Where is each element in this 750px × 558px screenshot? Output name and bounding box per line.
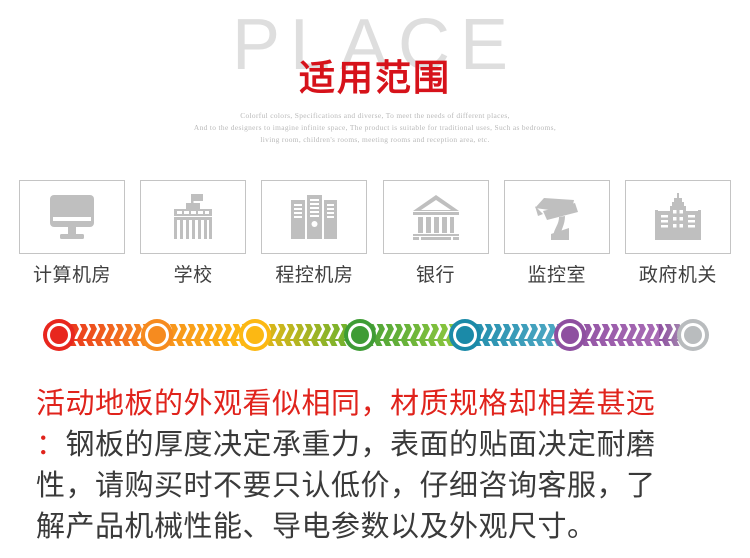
description-line-2: ：钢板的厚度决定承重力，表面的贴面决定耐磨: [36, 425, 714, 466]
cctv-camera-icon: [529, 192, 585, 242]
subtitle-line-2: And to the designers to imagine infinite…: [0, 122, 750, 134]
description-line-2-text: 钢板的厚度决定承重力，表面的贴面决定耐磨: [66, 429, 656, 461]
scenario-item-switch-room[interactable]: 程控机房: [260, 180, 368, 288]
description-colon: ：: [36, 429, 66, 461]
scenario-item-computer-room[interactable]: 计算机房: [18, 180, 126, 288]
description-line-4: 解产品机械性能、导电参数以及外观尺寸。: [36, 507, 714, 548]
bank-icon: [408, 192, 464, 242]
subtitle-block: Colorful colors, Specifications and dive…: [0, 110, 750, 147]
subtitle-line-3: living room, children's rooms, meeting r…: [0, 134, 750, 146]
server-rack-icon: [286, 192, 342, 242]
page-header: PLACE 适用范围 Colorful colors, Specificatio…: [0, 0, 750, 168]
icon-frame: [625, 180, 731, 254]
government-building-icon: [650, 192, 706, 242]
scenario-label: 计算机房: [33, 264, 111, 288]
subtitle-line-1: Colorful colors, Specifications and dive…: [0, 110, 750, 122]
scenario-item-bank[interactable]: 银行: [382, 180, 490, 288]
scenario-label: 程控机房: [275, 264, 353, 288]
description-block: 活动地板的外观看似相同，材质规格却相差甚远 ：钢板的厚度决定承重力，表面的贴面决…: [0, 384, 750, 548]
description-line-3: 性，请购买时不要只认低价，仔细咨询客服，了: [36, 466, 714, 507]
icon-frame: [504, 180, 610, 254]
scenario-label: 政府机关: [639, 264, 717, 288]
rainbow-chevron-divider: [38, 318, 714, 352]
monitor-icon: [44, 192, 100, 242]
icon-frame: [19, 180, 125, 254]
school-building-icon: [165, 192, 221, 242]
scenario-item-school[interactable]: 学校: [139, 180, 247, 288]
application-scenario-list: 计算机房: [0, 180, 750, 288]
scenario-label: 学校: [174, 264, 213, 288]
description-line-1: 活动地板的外观看似相同，材质规格却相差甚远: [36, 384, 714, 425]
scenario-label: 银行: [416, 264, 455, 288]
scenario-label: 监控室: [527, 264, 586, 288]
icon-frame: [383, 180, 489, 254]
scenario-item-monitoring-room[interactable]: 监控室: [503, 180, 611, 288]
page-title: 适用范围: [0, 56, 750, 100]
scenario-item-government[interactable]: 政府机关: [624, 180, 732, 288]
icon-frame: [140, 180, 246, 254]
icon-frame: [261, 180, 367, 254]
